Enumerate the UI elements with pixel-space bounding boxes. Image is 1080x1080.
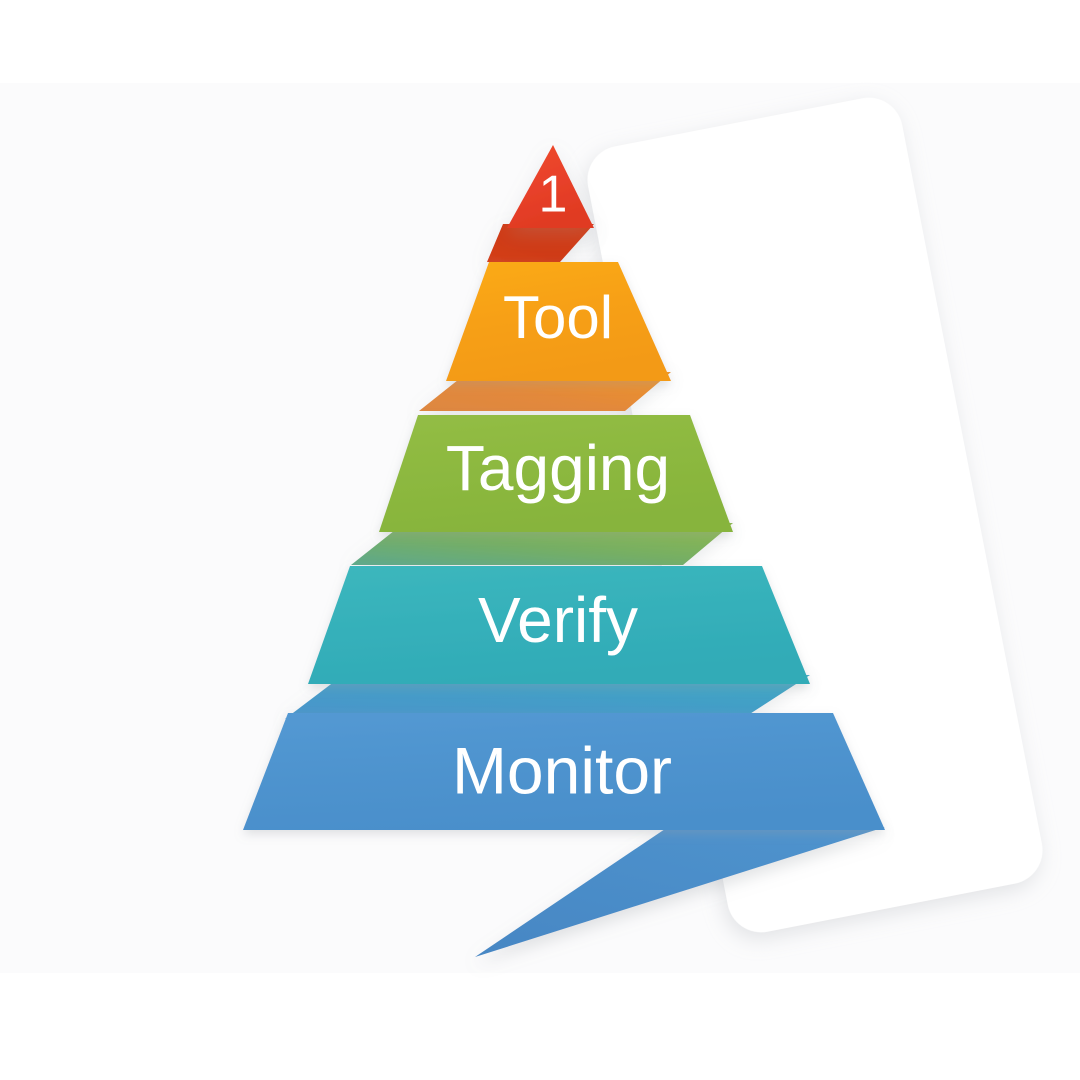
apex-fold-shape [487, 224, 594, 262]
level-tagging[interactable]: Tagging [351, 415, 733, 565]
tagging-band-label: Tagging [446, 432, 670, 504]
pyramid-ribbon-chart: 1 Tool Tagging Verify Monitor [0, 0, 1080, 1080]
level-apex[interactable]: 1 [487, 145, 594, 262]
verify-band-label: Verify [478, 584, 638, 656]
tool-band-label: Tool [503, 284, 613, 351]
level-verify[interactable]: Verify [285, 566, 810, 719]
monitor-band-label: Monitor [452, 733, 672, 807]
infographic-stage: 1 Tool Tagging Verify Monitor [0, 0, 1080, 1080]
apex-step-number: 1 [539, 166, 568, 224]
